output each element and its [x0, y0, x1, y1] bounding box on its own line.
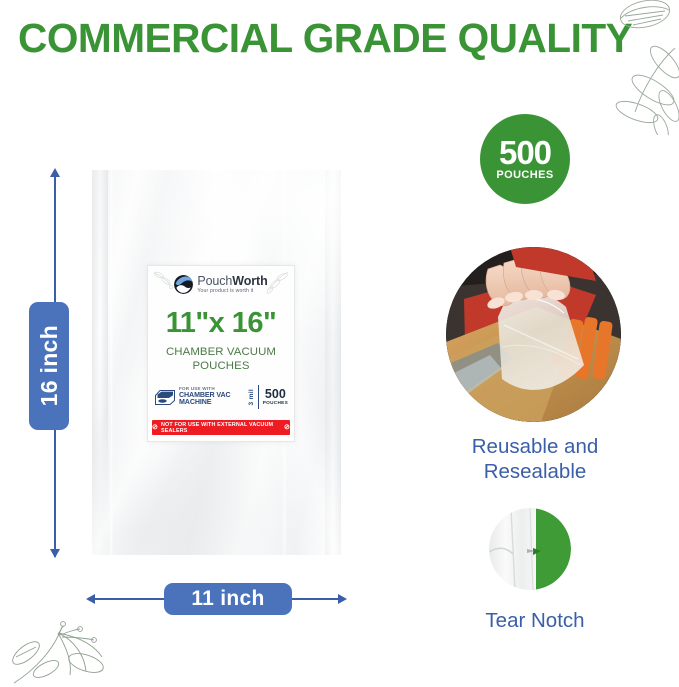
product-label: PouchWorth Your product is worth it 11"x…: [147, 265, 295, 442]
pouch-crease: [110, 170, 113, 555]
product-infographic: COMMERCIAL GRADE QUALITY: [0, 0, 679, 687]
arrow-left-icon: [86, 594, 95, 604]
arrow-down-icon: [50, 549, 60, 558]
tear-notch-caption: Tear Notch: [420, 608, 650, 633]
height-dimension-label: 16 inch: [36, 325, 63, 406]
botanical-decoration-icon: [6, 591, 141, 687]
brand-name: PouchWorth: [197, 275, 267, 288]
width-dimension-label: 11 inch: [191, 587, 264, 611]
reusable-feature-caption: Reusable and Resealable: [420, 434, 650, 484]
quantity-badge: 500 POUCHES: [480, 114, 570, 204]
brand-tagline: Your product is worth it: [197, 289, 267, 294]
label-specs-row: FOR USE WITH CHAMBER VAC MACHINE 3 mil 5…: [154, 384, 288, 410]
pouchworth-logo-icon: [174, 275, 193, 294]
no-entry-icon: ⊘: [284, 424, 290, 431]
chamber-vac-machine-icon: [154, 389, 176, 406]
label-size-text: 11"x 16": [148, 307, 294, 340]
quantity-badge-number: 500: [499, 137, 551, 168]
label-warning-banner: ⊘ NOT FOR USE WITH EXTERNAL VACUUM SEALE…: [152, 420, 290, 435]
label-warning-text: NOT FOR USE WITH EXTERNAL VACUUM SEALERS: [161, 422, 281, 434]
label-count-number: 500: [263, 388, 288, 401]
label-use-big: CHAMBER VAC MACHINE: [179, 392, 248, 407]
arrow-right-icon: [338, 594, 347, 604]
page-title: COMMERCIAL GRADE QUALITY: [18, 18, 652, 59]
tear-notch-photo: [489, 508, 571, 590]
width-dimension-badge: 11 inch: [164, 583, 292, 615]
label-thickness: 3 mil: [248, 389, 255, 406]
arrow-up-icon: [50, 168, 60, 177]
label-count-label: POUCHES: [263, 401, 288, 406]
label-divider: [258, 385, 259, 409]
no-entry-icon: ⊘: [152, 424, 158, 431]
reusable-feature-photo: [446, 247, 621, 422]
height-dimension-badge: 16 inch: [29, 302, 69, 430]
quantity-badge-label: POUCHES: [496, 169, 553, 181]
brand-lockup: PouchWorth Your product is worth it: [148, 275, 294, 294]
label-product-name: CHAMBER VACUUM POUCHES: [148, 345, 294, 374]
vacuum-pouch-image: PouchWorth Your product is worth it 11"x…: [92, 170, 341, 555]
